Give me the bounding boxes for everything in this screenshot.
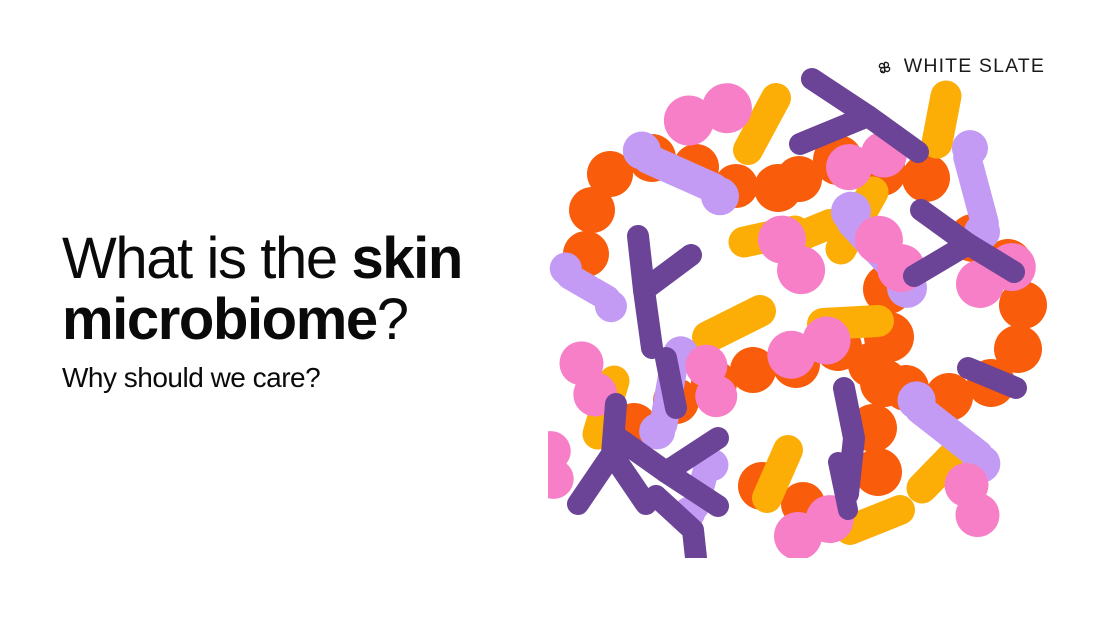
skin-microbiome-illustration (548, 58, 1060, 558)
illustration-container (0, 0, 1100, 620)
hero-canvas: WHITE SLATE What is the skin microbiome?… (0, 0, 1100, 620)
